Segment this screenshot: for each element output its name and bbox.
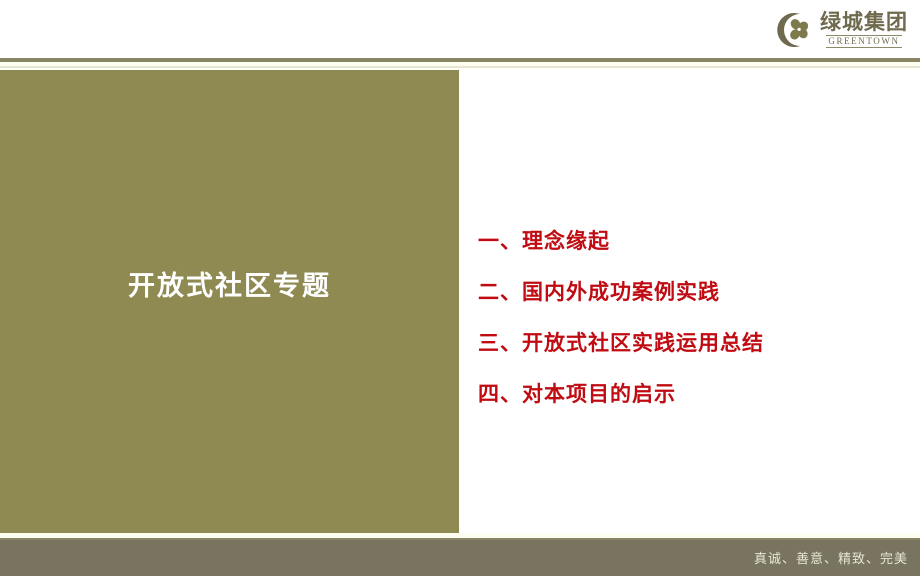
slide-header: 绿城集团 GREENTOWN bbox=[0, 0, 920, 58]
slide-footer: 真诚、善意、精致、完美 bbox=[0, 540, 920, 576]
greentown-logo: 绿城集团 GREENTOWN bbox=[774, 8, 908, 52]
agenda-panel: 一、 理念缘起 二、 国内外成功案例实践 三、 开放式社区实践运用总结 四、 对… bbox=[459, 70, 920, 533]
agenda-list: 一、 理念缘起 二、 国内外成功案例实践 三、 开放式社区实践运用总结 四、 对… bbox=[478, 225, 908, 429]
slide: 绿城集团 GREENTOWN 开放式社区专题 一、 理念缘起 二、 国内外成功案… bbox=[0, 0, 920, 576]
agenda-item-3-label: 开放式社区实践运用总结 bbox=[522, 327, 764, 357]
agenda-item-4[interactable]: 四、 对本项目的启示 bbox=[478, 378, 908, 408]
footer-slogan: 真诚、善意、精致、完美 bbox=[754, 548, 908, 567]
slide-title: 开放式社区专题 bbox=[0, 264, 459, 303]
agenda-item-3[interactable]: 三、 开放式社区实践运用总结 bbox=[478, 327, 908, 357]
agenda-item-1[interactable]: 一、 理念缘起 bbox=[478, 225, 908, 255]
agenda-item-4-number: 四、 bbox=[478, 378, 522, 408]
header-divider bbox=[0, 58, 920, 70]
logo-company-name-en-wrapper: GREENTOWN bbox=[826, 35, 901, 48]
agenda-item-2-label: 国内外成功案例实践 bbox=[522, 276, 720, 306]
logo-company-name-en: GREENTOWN bbox=[828, 37, 899, 46]
logo-wordmark: 绿城集团 GREENTOWN bbox=[820, 12, 908, 48]
divider-bottom-rule bbox=[0, 66, 920, 68]
agenda-item-1-number: 一、 bbox=[478, 225, 522, 255]
agenda-item-2-number: 二、 bbox=[478, 276, 522, 306]
greentown-clover-crescent-logo-icon bbox=[774, 10, 814, 50]
agenda-item-1-label: 理念缘起 bbox=[522, 225, 610, 255]
logo-company-name-cn: 绿城集团 bbox=[820, 12, 908, 33]
title-panel: 开放式社区专题 bbox=[0, 70, 459, 533]
agenda-item-3-number: 三、 bbox=[478, 327, 522, 357]
agenda-item-2[interactable]: 二、 国内外成功案例实践 bbox=[478, 276, 908, 306]
agenda-item-4-label: 对本项目的启示 bbox=[522, 378, 676, 408]
